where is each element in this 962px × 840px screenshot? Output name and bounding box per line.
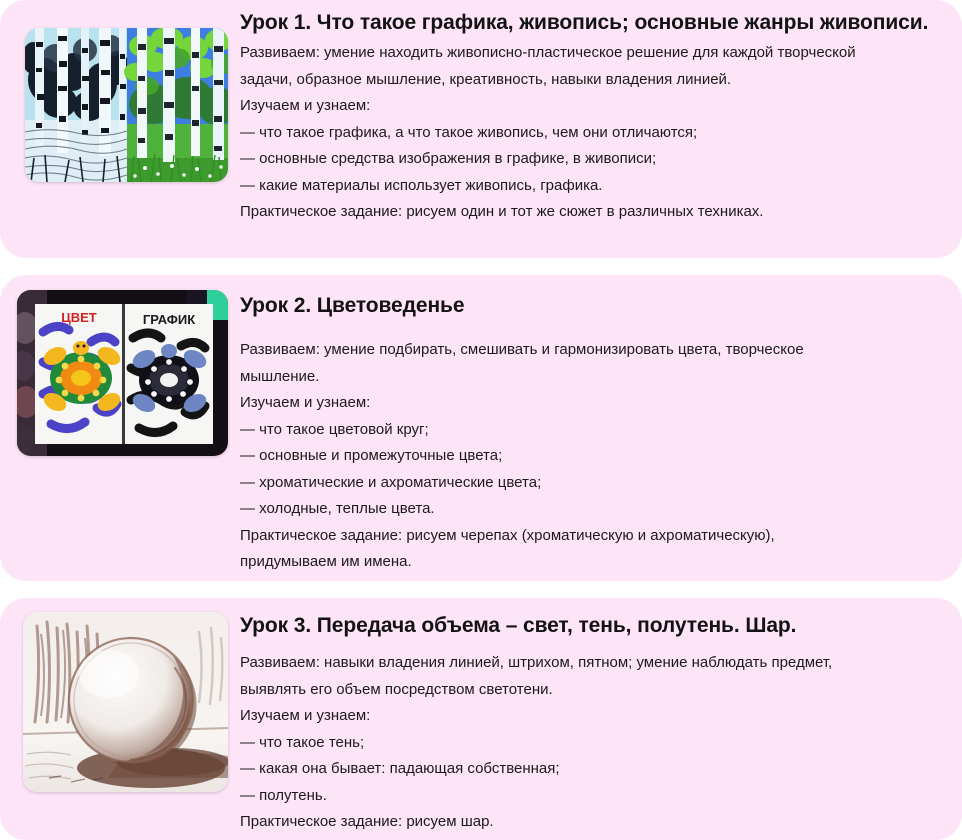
turtle-label-colour: ЦВЕТ [61, 310, 97, 325]
lesson-line: Практическое задание: рисуем один и тот … [240, 199, 948, 226]
turtles-illustration: ЦВЕТ [17, 290, 228, 456]
lesson-media-column [0, 598, 240, 840]
lesson-line: Развиваем: умение подбирать, смешивать и… [240, 337, 948, 364]
lesson-line: — что такое тень; [240, 730, 948, 757]
lesson-line: Развиваем: навыки владения линией, штрих… [240, 650, 948, 677]
lesson-image-sphere[interactable] [23, 612, 228, 792]
lesson-title: Урок 2. Цветоведенье [240, 292, 948, 319]
lesson-line: — что такое цветовой круг; [240, 417, 948, 444]
lesson-title: Урок 1. Что такое графика, живопись; осн… [240, 9, 948, 36]
lesson-line: Практическое задание: рисуем черепах (хр… [240, 523, 948, 550]
lesson-line: задачи, образное мышление, креативность,… [240, 67, 948, 94]
lesson-image-turtles[interactable]: ЦВЕТ [17, 290, 228, 456]
lesson-line: мышление. [240, 364, 948, 391]
lesson-line: придумываем им имена. [240, 549, 948, 576]
lesson-line: Изучаем и узнаем: [240, 390, 948, 417]
lesson-text-column: Урок 3. Передача объема – свет, тень, по… [240, 598, 962, 836]
lesson-line: — что такое графика, а что такое живопис… [240, 120, 948, 147]
lesson-text-column: Урок 1. Что такое графика, живопись; осн… [240, 0, 962, 226]
lesson-card: Урок 3. Передача объема – свет, тень, по… [0, 598, 962, 840]
lesson-image-birch-trees[interactable] [25, 28, 228, 182]
lesson-media-column [0, 0, 240, 258]
lesson-media-column: ЦВЕТ [0, 275, 240, 581]
lesson-line: Практическое задание: рисуем шар. [240, 809, 948, 836]
charcoal-sphere-illustration [23, 612, 228, 792]
lesson-card: Урок 1. Что такое графика, живопись; осн… [0, 0, 962, 258]
birch-trees-illustration [25, 28, 228, 182]
lesson-line: — основные и промежуточные цвета; [240, 443, 948, 470]
lessons-page: Урок 1. Что такое графика, живопись; осн… [0, 0, 962, 840]
lesson-line: — основные средства изображения в график… [240, 146, 948, 173]
lesson-title: Урок 3. Передача объема – свет, тень, по… [240, 612, 948, 639]
lesson-line: — хроматические и ахроматические цвета; [240, 470, 948, 497]
turtle-label-graphic: ГРАФИК [143, 312, 195, 327]
lesson-line: — полутень. [240, 783, 948, 810]
lesson-line: Развиваем: умение находить живописно-пла… [240, 40, 948, 67]
lesson-line: — холодные, теплые цвета. [240, 496, 948, 523]
lesson-line: — какие материалы использует живопись, г… [240, 173, 948, 200]
lesson-line: — какая она бывает: падающая собственная… [240, 756, 948, 783]
lesson-line: Изучаем и узнаем: [240, 703, 948, 730]
lesson-card: ЦВЕТ [0, 275, 962, 581]
lesson-line: Изучаем и узнаем: [240, 93, 948, 120]
lesson-text-column: Урок 2. Цветоведенье Развиваем: умение п… [240, 275, 962, 576]
lesson-line: выявлять его объем посредством светотени… [240, 677, 948, 704]
